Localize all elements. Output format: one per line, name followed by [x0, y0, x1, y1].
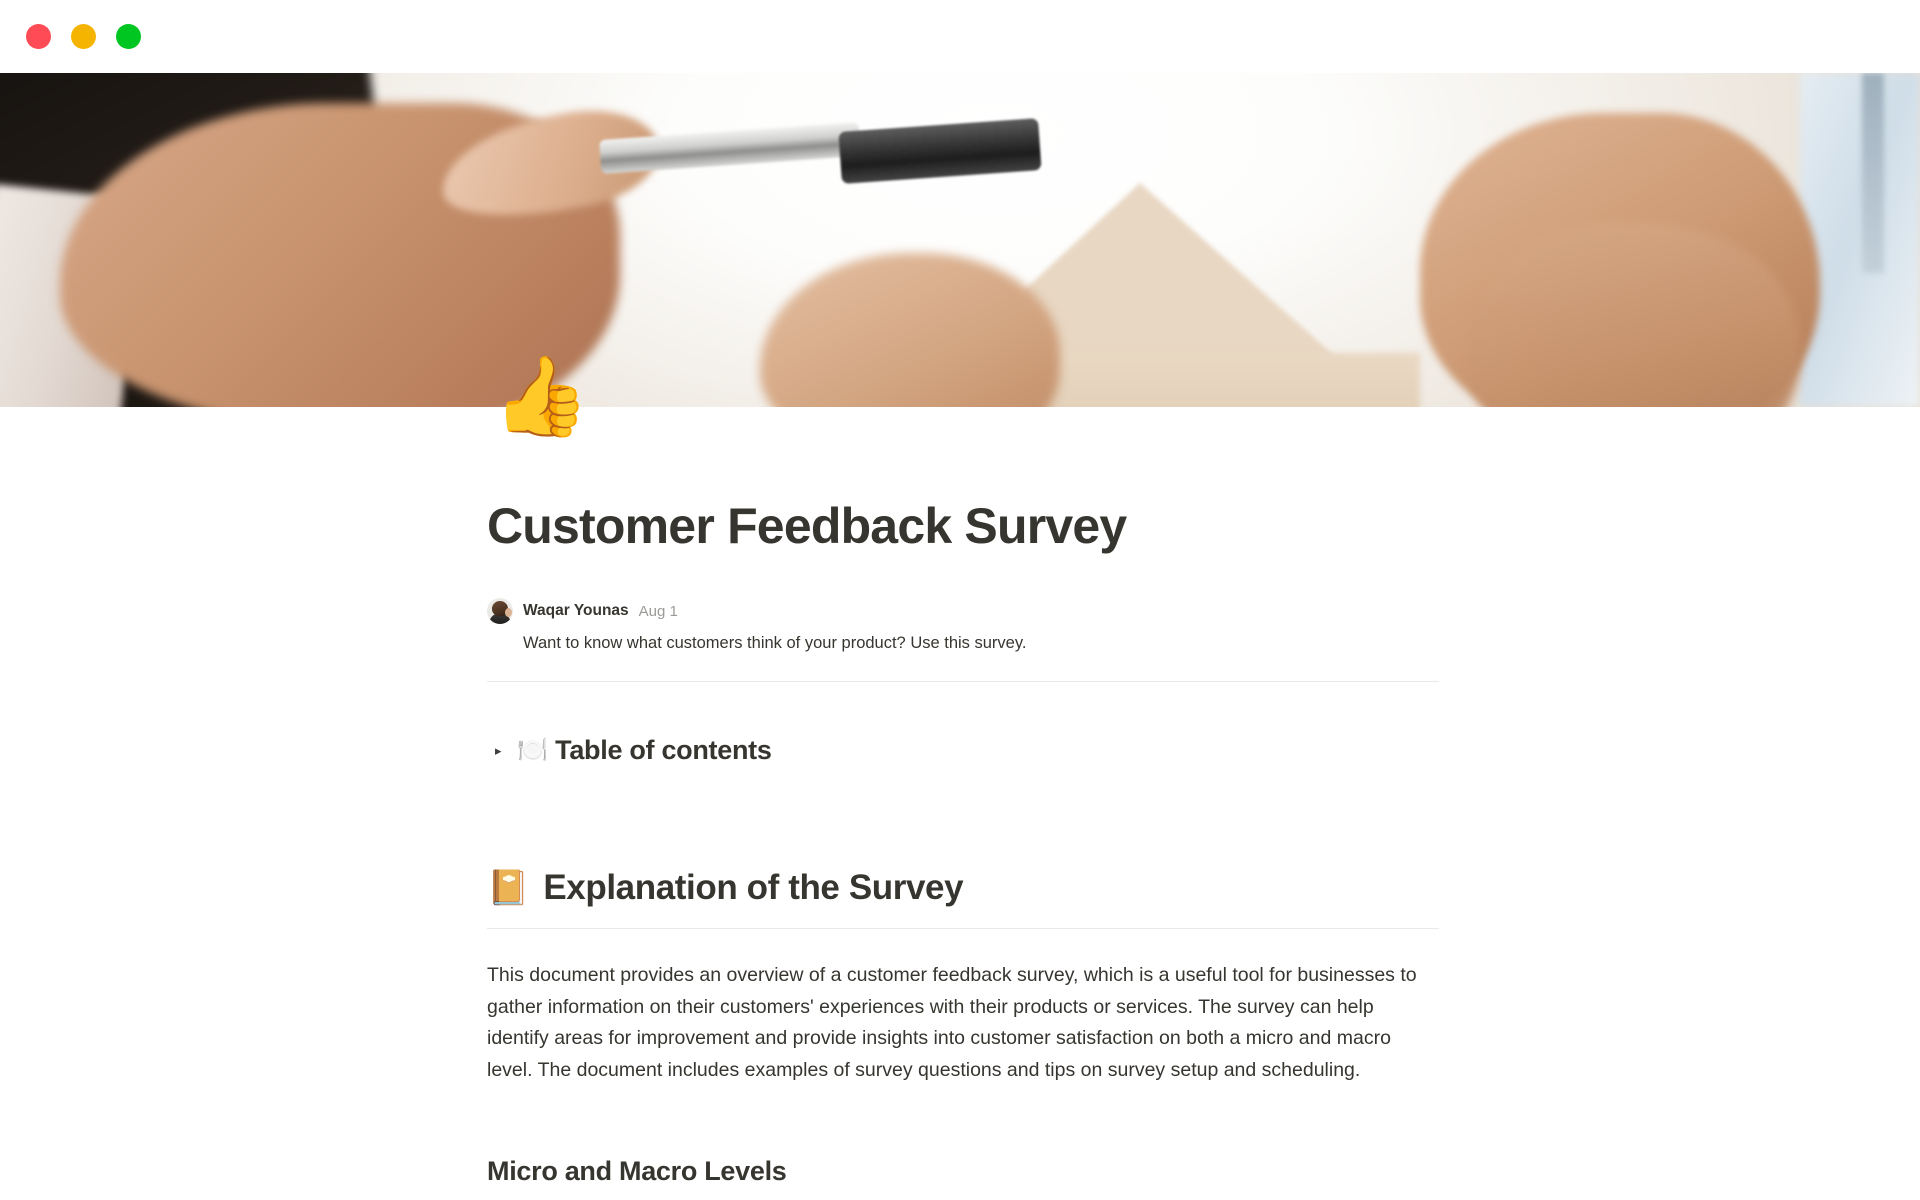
page-title[interactable]: Customer Feedback Survey [487, 498, 1447, 556]
notebook-icon: 📔 [487, 871, 529, 905]
publish-date: Aug 1 [639, 603, 678, 620]
byline-description[interactable]: Want to know what customers think of you… [523, 631, 1447, 656]
chevron-right-icon[interactable]: ▸ [487, 744, 513, 757]
window-title-bar [0, 0, 1920, 73]
minimize-window-button[interactable] [71, 24, 96, 49]
divider [487, 928, 1439, 929]
cover-window-frame [1862, 73, 1884, 273]
maximize-window-button[interactable] [116, 24, 141, 49]
plate-cutlery-icon: 🍽️ [517, 738, 548, 763]
close-window-button[interactable] [26, 24, 51, 49]
page-emoji-icon[interactable]: 👍 [493, 348, 589, 444]
table-of-contents-toggle[interactable]: ▸ 🍽️ Table of contents [487, 732, 772, 768]
avatar-hand [505, 608, 512, 617]
window-controls [26, 24, 141, 49]
section-paragraph[interactable]: This document provides an overview of a … [487, 960, 1437, 1086]
avatar[interactable] [487, 598, 513, 624]
byline: Waqar Younas Aug 1 Want to know what cus… [487, 598, 1447, 656]
page-cover-image[interactable] [0, 73, 1920, 407]
subsection-title[interactable]: Micro and Macro Levels [487, 1156, 787, 1187]
section-heading[interactable]: 📔 Explanation of the Survey [487, 868, 963, 908]
author-name[interactable]: Waqar Younas [523, 602, 629, 620]
section-title[interactable]: Explanation of the Survey [543, 868, 963, 908]
cover-window-pane [1800, 73, 1920, 407]
divider [487, 681, 1439, 682]
table-of-contents-label[interactable]: Table of contents [555, 735, 771, 766]
byline-row: Waqar Younas Aug 1 [487, 598, 1447, 624]
